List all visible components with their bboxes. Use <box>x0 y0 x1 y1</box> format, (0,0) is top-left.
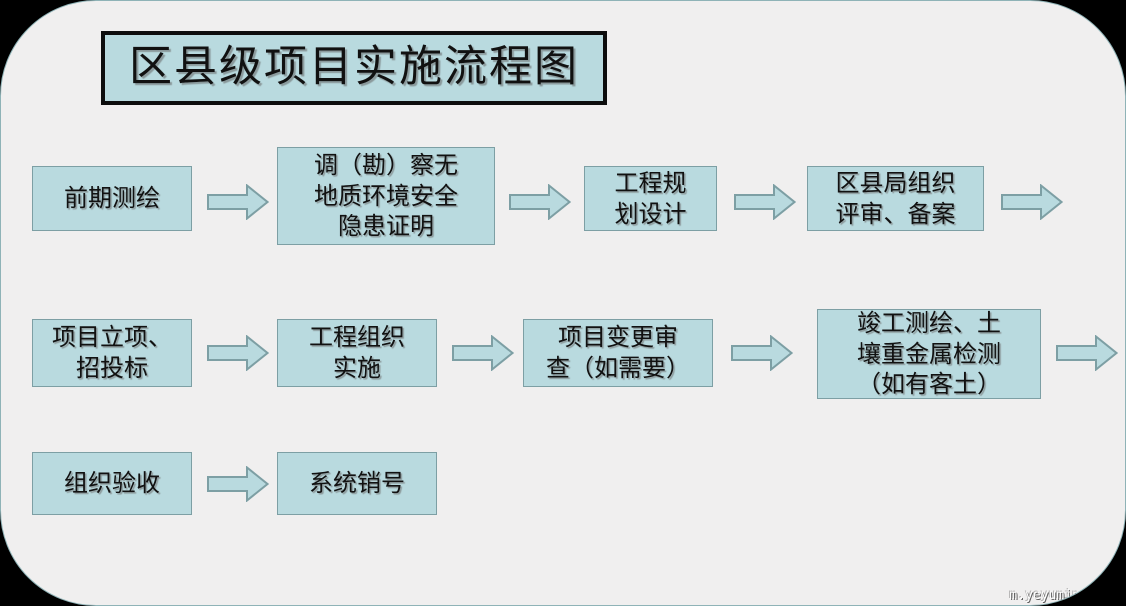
process-node-label: 区县局组织 评审、备案 <box>832 168 960 229</box>
process-node-label: 前期测绘 <box>60 183 164 214</box>
flowchart-canvas: 区县级项目实施流程图 前期测绘 调（勘）察无 地质环境安全 隐患证明 工程规 划… <box>0 0 1126 606</box>
process-node-label: 工程规 划设计 <box>611 168 691 229</box>
process-node-gongcheng-guihua[interactable]: 工程规 划设计 <box>584 166 717 231</box>
arrow-1-3 <box>734 184 796 220</box>
process-node-label: 组织验收 <box>60 468 164 499</box>
arrow-3-1 <box>207 466 269 502</box>
arrow-2-1 <box>207 335 269 371</box>
process-node-jungong-cehui[interactable]: 竣工测绘、土 壤重金属检测 （如有客土） <box>817 309 1041 399</box>
arrow-1-4 <box>1001 184 1063 220</box>
process-node-xiangmu-lixiang[interactable]: 项目立项、 招投标 <box>32 319 192 387</box>
arrow-1-1 <box>207 184 269 220</box>
arrow-2-3 <box>731 335 793 371</box>
arrow-1-2 <box>509 184 571 220</box>
process-node-label: 调（勘）察无 地质环境安全 隐患证明 <box>310 150 462 242</box>
site-watermark: m.yeyuming.com <box>1009 588 1119 603</box>
process-node-label: 系统销号 <box>305 468 409 499</box>
process-node-zuzhi-yanshou[interactable]: 组织验收 <box>32 452 192 515</box>
process-node-xitong-xiaohao[interactable]: 系统销号 <box>277 452 437 515</box>
process-node-qianqi-cehui[interactable]: 前期测绘 <box>32 166 192 231</box>
process-node-label: 竣工测绘、土 壤重金属检测 （如有客土） <box>853 308 1005 400</box>
arrow-2-2 <box>452 335 514 371</box>
page-title: 区县级项目实施流程图 <box>129 45 579 90</box>
process-node-gongcheng-zuzhi[interactable]: 工程组织 实施 <box>277 319 437 387</box>
process-node-label: 项目立项、 招投标 <box>48 322 176 383</box>
process-node-label: 项目变更审 查（如需要） <box>542 322 694 383</box>
process-node-quxianju-pingshen[interactable]: 区县局组织 评审、备案 <box>807 166 984 231</box>
process-node-dikan-cha[interactable]: 调（勘）察无 地质环境安全 隐患证明 <box>277 147 495 245</box>
arrow-2-4 <box>1056 335 1118 371</box>
process-node-label: 工程组织 实施 <box>305 322 409 383</box>
process-node-xiangmu-biangeng[interactable]: 项目变更审 查（如需要） <box>523 319 713 387</box>
chart-title-box: 区县级项目实施流程图 <box>101 31 607 105</box>
